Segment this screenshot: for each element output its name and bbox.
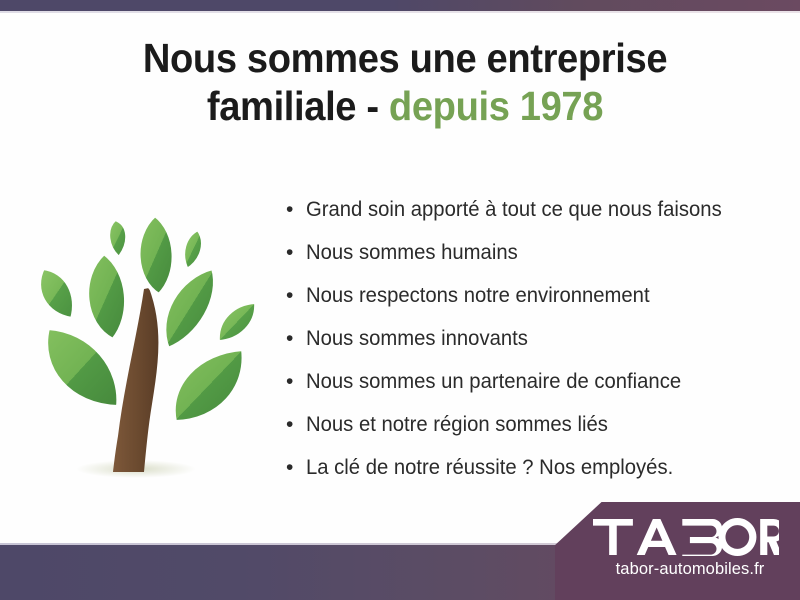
list-item: • Nous sommes innovants [286, 325, 786, 368]
bullet-icon: • [286, 282, 306, 309]
leaf [183, 229, 203, 270]
top-accent-bar [0, 0, 800, 11]
headline-line-2-primary: familiale - [207, 83, 389, 129]
list-item: • Nous sommes humains [286, 239, 786, 282]
bullet-icon: • [286, 196, 306, 223]
list-item-label: Nous respectons notre environnement [306, 282, 650, 309]
list-item: • Nous respectons notre environnement [286, 282, 786, 325]
value-bullet-list: • Grand soin apporté à tout ce que nous … [286, 196, 786, 497]
list-item-label: Grand soin apporté à tout ce que nous fa… [306, 196, 722, 223]
bullet-icon: • [286, 325, 306, 352]
slide-canvas: Nous sommes une entreprise familiale - d… [0, 0, 800, 600]
bullet-icon: • [286, 454, 306, 481]
list-item: • Nous sommes un partenaire de confiance [286, 368, 786, 411]
brand-url: tabor-automobiles.fr [595, 560, 785, 579]
brand-logo-panel: tabor-automobiles.fr [555, 502, 800, 600]
list-item-label: Nous sommes innovants [306, 325, 528, 352]
headline-line-2: familiale - depuis 1978 [84, 82, 726, 130]
top-accent-hairline [0, 11, 800, 13]
list-item: • La clé de notre réussite ? Nos employé… [286, 454, 786, 497]
list-item: • Nous et notre région sommes liés [286, 411, 786, 454]
headline-line-2-accent: depuis 1978 [389, 83, 603, 129]
list-item-label: Nous et notre région sommes liés [306, 411, 608, 438]
list-item-label: Nous sommes un partenaire de confiance [306, 368, 681, 395]
list-item-label: Nous sommes humains [306, 239, 518, 266]
list-item: • Grand soin apporté à tout ce que nous … [286, 196, 786, 239]
bullet-icon: • [286, 411, 306, 438]
leaf [108, 219, 127, 258]
leaf [164, 268, 215, 349]
leaf [139, 215, 174, 295]
tabor-wordmark-icon [593, 518, 779, 556]
page-title: Nous sommes une entreprise familiale - d… [84, 34, 726, 131]
bullet-icon: • [286, 239, 306, 266]
leaf [218, 302, 256, 342]
headline-line-1: Nous sommes une entreprise [84, 34, 726, 82]
tree-illustration [18, 196, 268, 492]
leaf [39, 268, 74, 319]
bullet-icon: • [286, 368, 306, 395]
leaf [46, 328, 118, 407]
list-item-label: La clé de notre réussite ? Nos employés. [306, 454, 673, 481]
leaf [174, 349, 244, 422]
leaf [87, 253, 126, 340]
